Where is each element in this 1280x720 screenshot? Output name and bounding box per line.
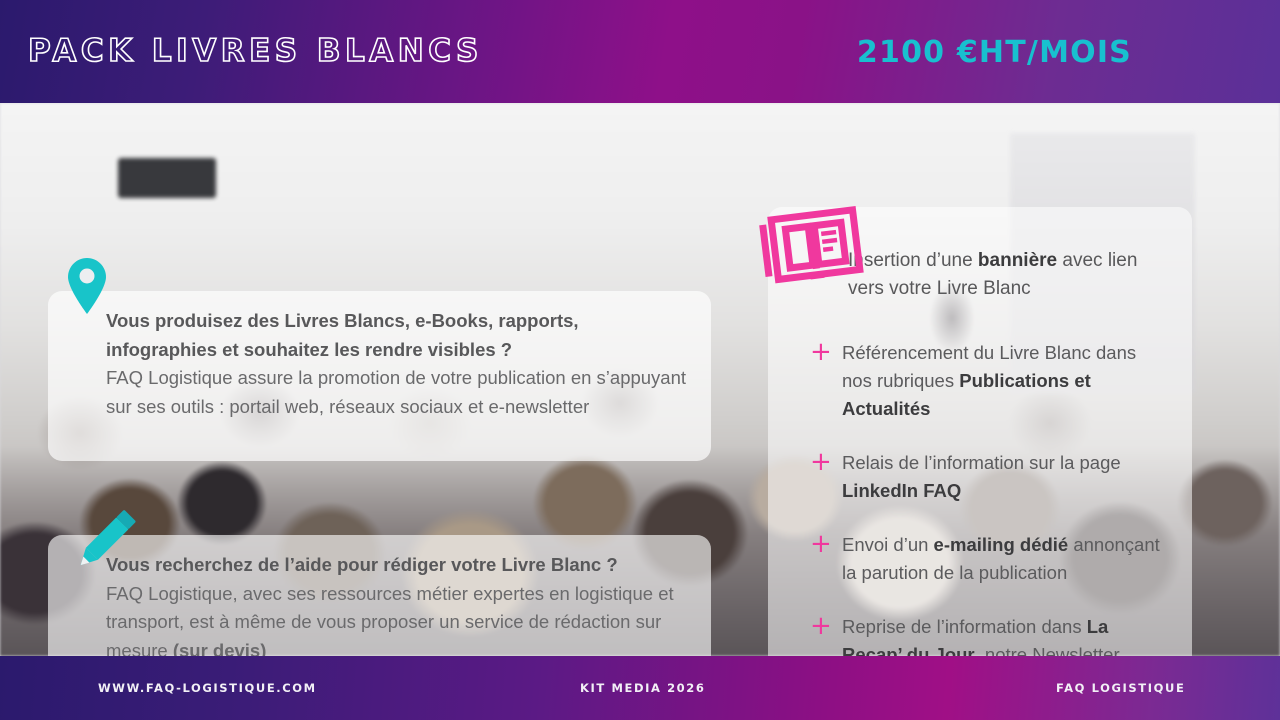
plus-icon: + — [810, 534, 830, 554]
slide-footer: WWW.FAQ-LOGISTIQUE.COM KIT MEDIA 2026 FA… — [0, 656, 1280, 720]
benefits-list: + Référencement du Livre Blanc dans nos … — [796, 339, 1170, 656]
photo-detail-speaker-stand — [118, 158, 216, 198]
list-item: + Envoi d’un e-mailing dédié annonçant l… — [796, 531, 1170, 587]
bullet-pre: Relais de l’information sur la page — [842, 452, 1121, 473]
pencil-icon — [66, 501, 144, 579]
map-pin-icon — [68, 258, 106, 314]
slide-body: Vous produisez des Livres Blancs, e-Book… — [0, 103, 1280, 656]
panel-intro-bold: bannière — [978, 250, 1057, 271]
card-help-body: FAQ Logistique, avec ses ressources méti… — [106, 580, 689, 657]
card-produce-body: FAQ Logistique assure la promotion de vo… — [106, 364, 689, 421]
list-item: + Reprise de l’information dans La Recap… — [796, 613, 1170, 656]
card-produce-white-papers: Vous produisez des Livres Blancs, e-Book… — [48, 291, 711, 461]
bullet-pre: Reprise de l’information dans — [842, 616, 1087, 637]
footer-website[interactable]: WWW.FAQ-LOGISTIQUE.COM — [98, 681, 317, 695]
panel-intro: Insertion d’une bannière avec lien vers … — [848, 247, 1170, 303]
card-produce-lead: Vous produisez des Livres Blancs, e-Book… — [106, 307, 689, 364]
card-help-lead: Vous recherchez de l’aide pour rédiger v… — [106, 551, 689, 580]
bullet-bold: e-mailing dédié — [934, 534, 1069, 555]
plus-icon: + — [810, 616, 830, 636]
footer-kit-media: KIT MEDIA 2026 — [580, 681, 705, 695]
slide-header: PACK LIVRES BLANCS 2100 €HT/MOIS — [0, 0, 1280, 103]
page-title: PACK LIVRES BLANCS — [28, 36, 483, 67]
open-book-icon — [756, 201, 869, 297]
card-writing-help: Vous recherchez de l’aide pour rédiger v… — [48, 535, 711, 656]
plus-icon: + — [810, 452, 830, 472]
list-item: + Relais de l’information sur la page Li… — [796, 449, 1170, 505]
bullet-pre: Envoi d’un — [842, 534, 934, 555]
plus-icon: + — [810, 342, 830, 362]
card-help-body-emphasis: (sur devis) — [173, 640, 267, 657]
footer-brand: FAQ LOGISTIQUE — [1056, 681, 1185, 695]
bullet-bold: LinkedIn FAQ — [842, 480, 961, 501]
price-label: 2100 €HT/MOIS — [857, 38, 1132, 68]
list-item: + Référencement du Livre Blanc dans nos … — [796, 339, 1170, 423]
slide-root: PACK LIVRES BLANCS 2100 €HT/MOIS Vous pr… — [0, 0, 1280, 720]
